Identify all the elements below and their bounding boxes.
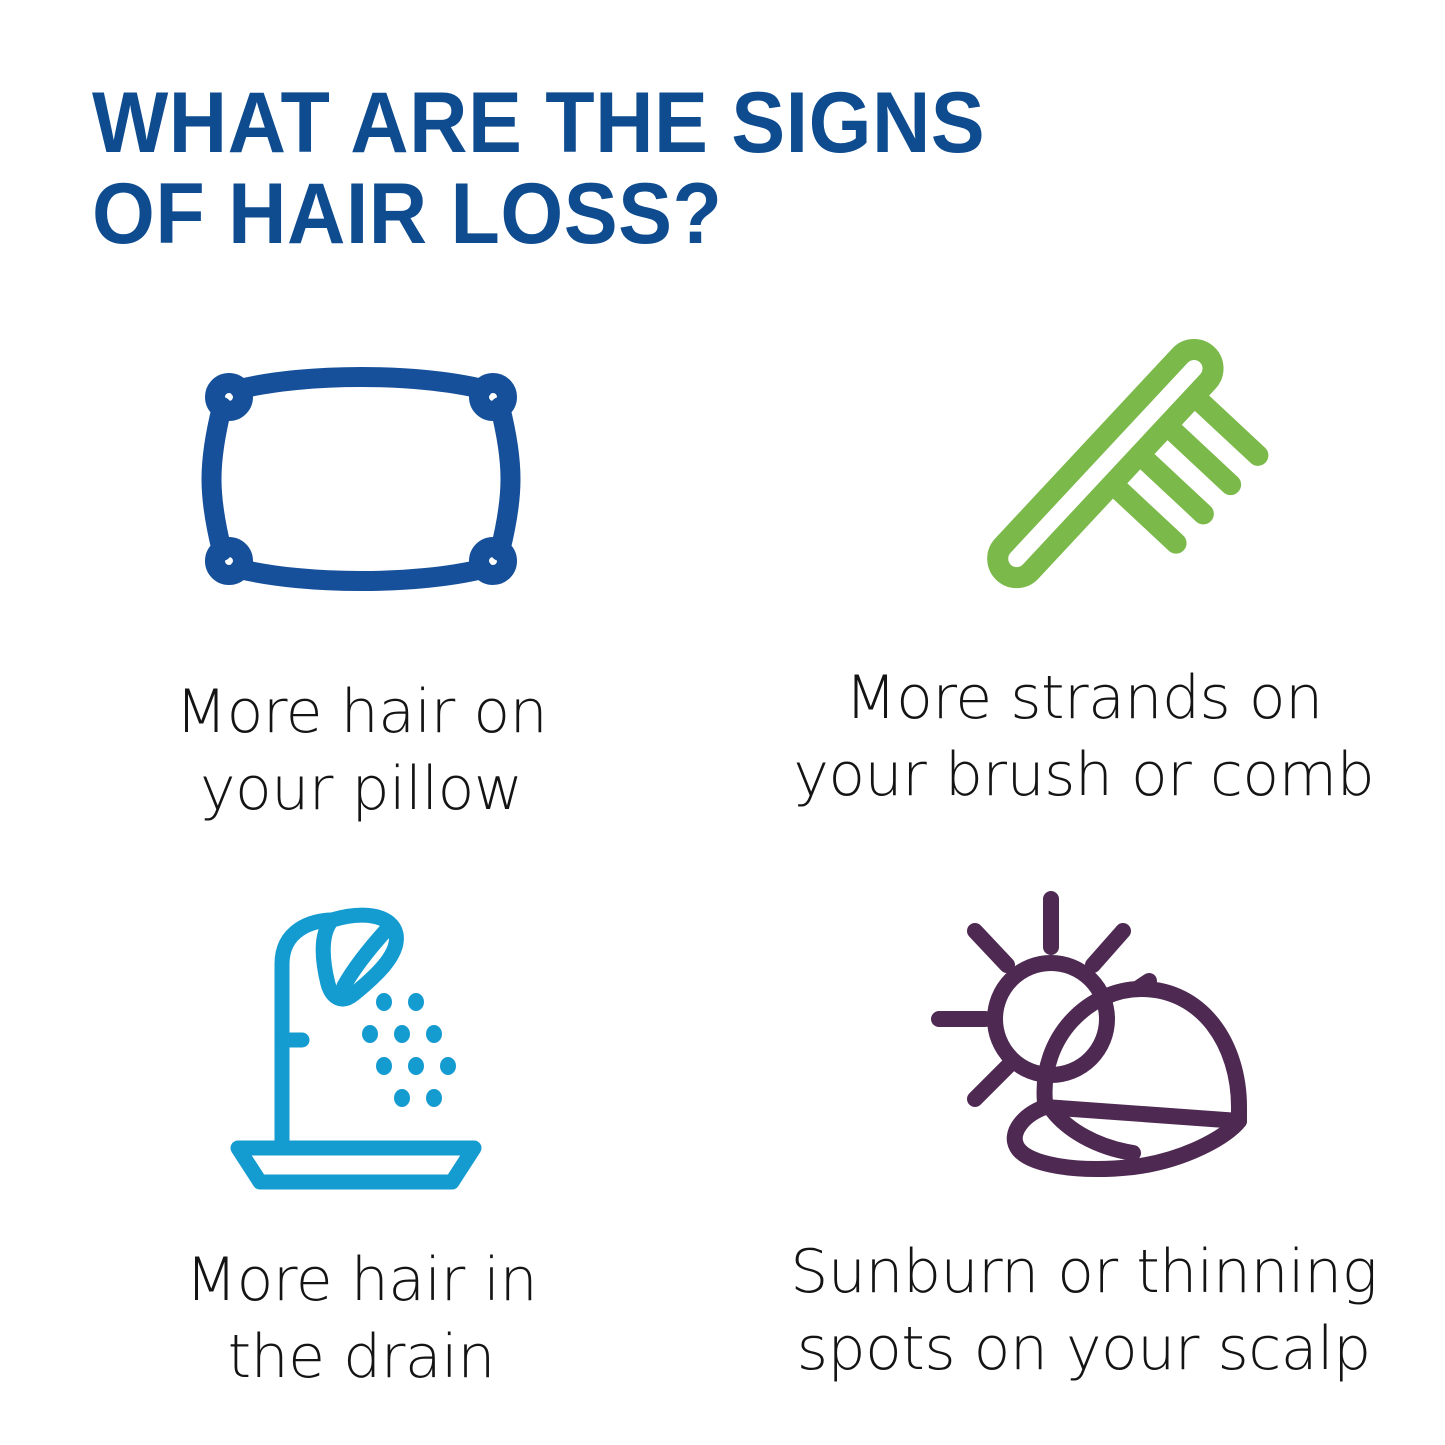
- sign-caption-shower: More hair in the drain: [185, 1242, 537, 1396]
- sign-caption-comb: More strands on your brush or comb: [793, 660, 1374, 814]
- sign-item-comb: More strands on your brush or comb: [723, 300, 1445, 860]
- sign-item-pillow: More hair on your pillow: [0, 300, 723, 860]
- sign-item-cap: Sunburn or thinning spots on your scalp: [723, 860, 1445, 1420]
- page-title-line-1: WHAT ARE THE SIGNS: [92, 78, 1145, 169]
- infographic-root: WHAT ARE THE SIGNS OF HAIR LOSS?: [0, 0, 1445, 1445]
- sun-and-cap-icon: [927, 870, 1257, 1200]
- caption-line-1: More hair in: [185, 1242, 537, 1319]
- caption-line-1: More hair on: [175, 674, 547, 751]
- sign-item-shower: More hair in the drain: [0, 860, 723, 1420]
- page-title-line-2: OF HAIR LOSS?: [92, 169, 1145, 260]
- caption-line-2: your brush or comb: [793, 737, 1374, 814]
- caption-line-2: spots on your scalp: [790, 1311, 1377, 1388]
- shower-icon: [196, 878, 526, 1208]
- sign-caption-pillow: More hair on your pillow: [175, 674, 547, 828]
- caption-line-1: More strands on: [793, 660, 1374, 737]
- caption-line-2: the drain: [185, 1319, 537, 1396]
- pillow-icon: [196, 314, 526, 644]
- caption-line-1: Sunburn or thinning: [790, 1234, 1377, 1311]
- caption-line-2: your pillow: [175, 751, 547, 828]
- comb-icon: [939, 300, 1269, 630]
- sign-caption-cap: Sunburn or thinning spots on your scalp: [790, 1234, 1377, 1388]
- signs-grid: More hair on your pillow: [0, 300, 1445, 1420]
- page-title: WHAT ARE THE SIGNS OF HAIR LOSS?: [92, 78, 1212, 260]
